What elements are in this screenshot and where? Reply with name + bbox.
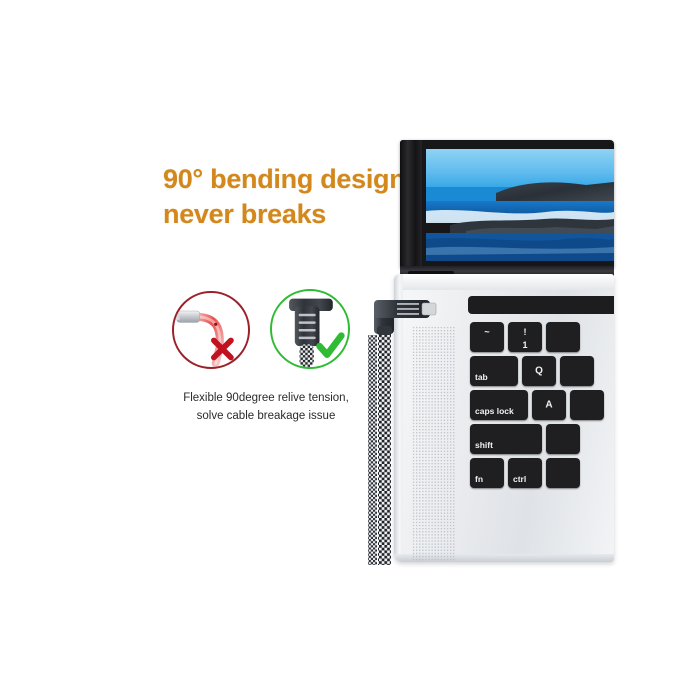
check-mark (320, 336, 342, 355)
key-blank[interactable] (560, 356, 594, 386)
laptop-lid (400, 140, 614, 268)
lid-left-bevel (400, 140, 422, 268)
laptop: ~! 1tabQcaps lockAshiftfnctrl (352, 140, 612, 565)
braided-cable-tail (300, 344, 314, 367)
bad-example-illustration (174, 293, 248, 367)
keyboard: ~! 1tabQcaps lockAshiftfnctrl (468, 322, 614, 562)
key-label: Q (535, 366, 543, 377)
key-label: ~ (484, 326, 489, 339)
key-label: fn (475, 474, 483, 484)
key-q[interactable]: Q (522, 356, 556, 386)
key-shift[interactable]: shift (470, 424, 542, 454)
laptop-screen (426, 149, 614, 261)
base-top-edge (394, 274, 614, 290)
key-blank[interactable] (546, 322, 580, 352)
key-label: ! 1 (522, 326, 527, 352)
good-example-badge (270, 289, 350, 369)
key-label: shift (475, 440, 493, 450)
key-blank[interactable] (546, 458, 580, 488)
deck-strip (468, 296, 614, 314)
key-a[interactable]: A (532, 390, 566, 420)
product-image-canvas: 90° bending design never breaks (0, 0, 700, 700)
key-!-1[interactable]: ! 1 (508, 322, 542, 352)
key-caps-lock[interactable]: caps lock (470, 390, 528, 420)
key-fn[interactable]: fn (470, 458, 504, 488)
key-~[interactable]: ~ (470, 322, 504, 352)
key-blank[interactable] (570, 390, 604, 420)
good-example-illustration (272, 291, 348, 367)
key-label: tab (475, 372, 488, 382)
key-label: ctrl (513, 474, 526, 484)
caption-text: Flexible 90degree relive tension, solve … (150, 390, 382, 426)
base-left-edge (394, 274, 403, 562)
plug-housing (177, 311, 200, 322)
bad-example-badge (172, 291, 250, 369)
key-label: A (545, 400, 552, 411)
break-point (214, 323, 217, 326)
key-ctrl[interactable]: ctrl (508, 458, 542, 488)
laptop-base: ~! 1tabQcaps lockAshiftfnctrl (394, 274, 614, 562)
wallpaper-coastal-seascape (426, 149, 614, 261)
connector-body (295, 306, 320, 346)
key-label: caps lock (475, 406, 514, 416)
key-tab[interactable]: tab (470, 356, 518, 386)
key-blank[interactable] (546, 424, 580, 454)
speaker-grille (412, 326, 456, 562)
